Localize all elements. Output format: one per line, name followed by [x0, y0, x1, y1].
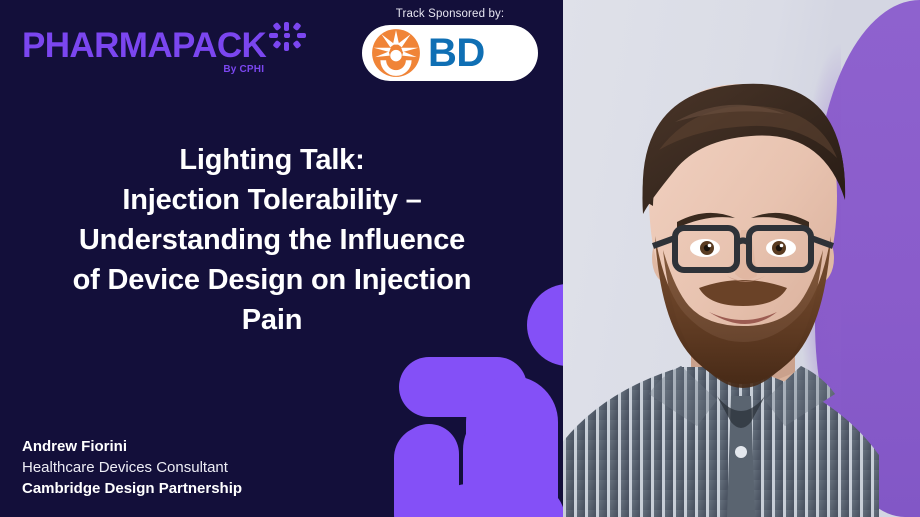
pharmapack-wordmark: PHARMAPACK	[22, 28, 266, 63]
pharmapack-subtext: By CPHI	[223, 64, 264, 75]
decor-pill	[433, 484, 563, 517]
bd-logo[interactable]: BD	[362, 25, 538, 81]
speaker-credit: Andrew Fiorini Healthcare Devices Consul…	[22, 436, 242, 499]
bd-wordmark: BD	[428, 33, 485, 73]
speaker-name: Andrew Fiorini	[22, 436, 242, 457]
title-line: of Device Design on Injection	[18, 260, 526, 300]
left-content-panel: PHARMAPACK By CPHI Track Sponsored by:	[0, 0, 563, 517]
bd-sunburst-icon	[370, 27, 422, 79]
pharmapack-logo[interactable]: PHARMAPACK By CPHI	[22, 28, 307, 63]
speaker-portrait	[563, 0, 920, 517]
title-line: Injection Tolerability –	[18, 180, 526, 220]
starburst-mark-icon	[269, 22, 307, 56]
sponsor-block: Track Sponsored by:	[362, 8, 538, 81]
presentation-slide: PHARMAPACK By CPHI Track Sponsored by:	[0, 0, 920, 517]
session-title: Lighting Talk: Injection Tolerability – …	[18, 140, 526, 340]
decor-pill	[527, 284, 563, 366]
title-line: Pain	[18, 300, 526, 340]
sponsor-label: Track Sponsored by:	[362, 8, 538, 20]
speaker-organization: Cambridge Design Partnership	[22, 478, 242, 499]
speaker-photo-panel	[563, 0, 920, 517]
title-line: Understanding the Influence	[18, 220, 526, 260]
title-line: Lighting Talk:	[18, 140, 526, 180]
speaker-role: Healthcare Devices Consultant	[22, 457, 242, 478]
